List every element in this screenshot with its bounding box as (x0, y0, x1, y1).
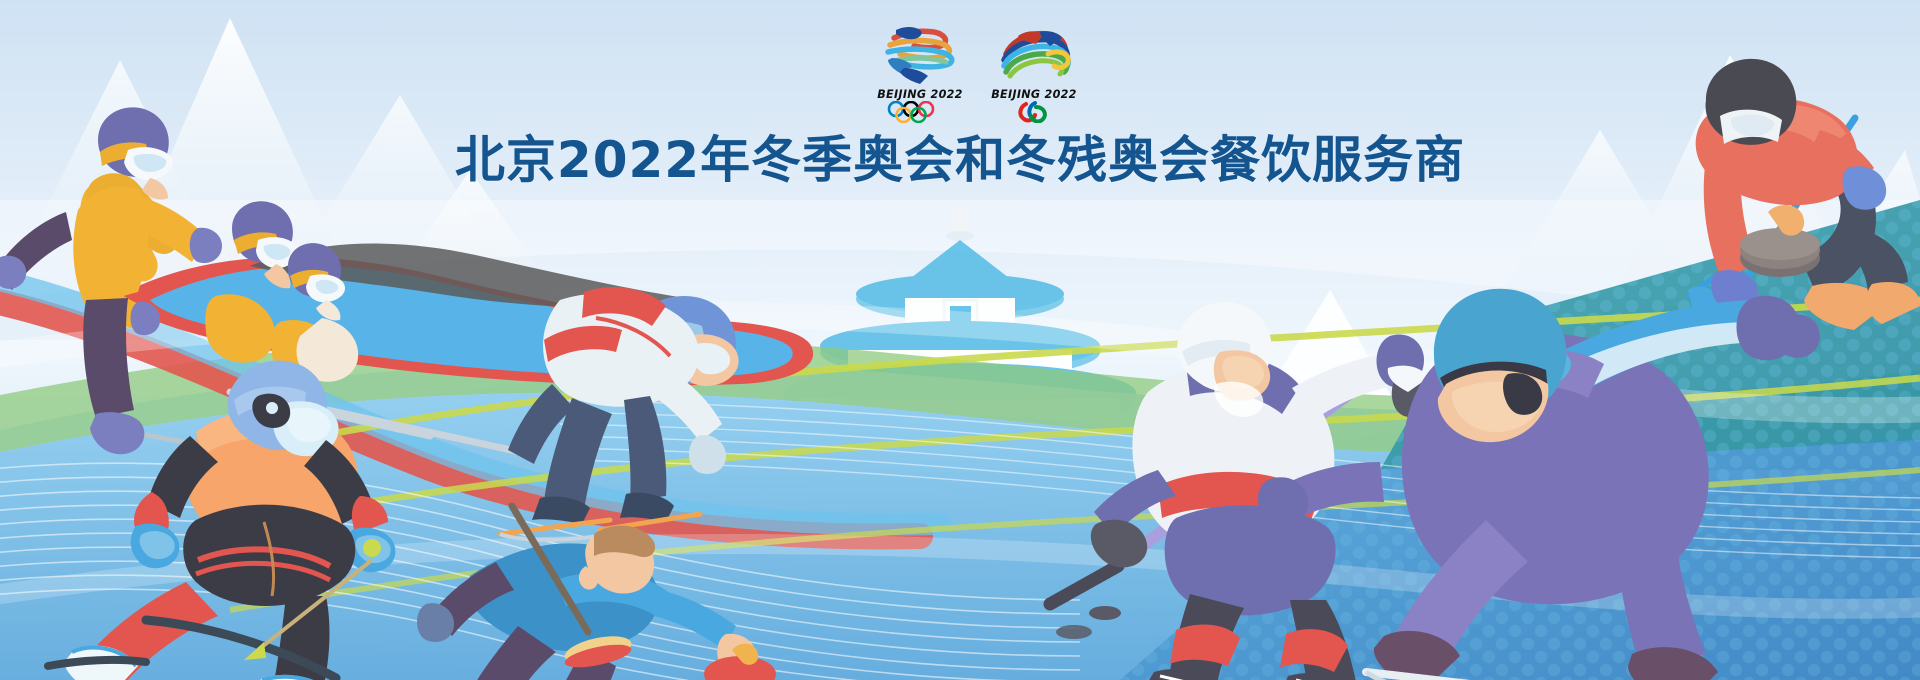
curler-sweeper-figure (1688, 59, 1920, 330)
olympic-emblem-icon (874, 24, 966, 86)
curling-stone-top (1740, 205, 1820, 277)
curler-sliding-figure (417, 506, 776, 680)
paralympic-wordmark: BEIJING 2022 (989, 87, 1078, 101)
paralympic-emblem-icon (988, 24, 1080, 86)
beijing-2022-olympic-emblem: BEIJING 2022 (874, 24, 966, 120)
olympics-banner: BEIJING 2022 (0, 0, 1920, 680)
curling-stone-bottom (704, 644, 776, 680)
page-title: 北京2022年冬季奥会和冬残奥会餐饮服务商 (0, 120, 1920, 192)
speed-skater-large-figure (1258, 289, 1820, 680)
emblem-group: BEIJING 2022 (872, 24, 1082, 120)
beijing-2022-paralympic-emblem: BEIJING 2022 (988, 24, 1080, 120)
olympic-wordmark: BEIJING 2022 (875, 87, 964, 101)
